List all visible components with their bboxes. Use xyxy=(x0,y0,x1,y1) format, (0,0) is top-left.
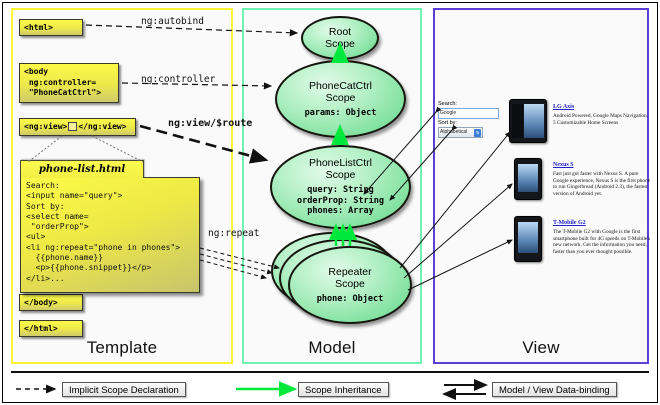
tag-box-body-close: </body> xyxy=(19,294,83,311)
phone-keyboard xyxy=(512,104,523,138)
tag-box-html-open: <html> xyxy=(19,19,83,36)
scope-phonecatctrl: PhoneCatCtrlScope params: Object xyxy=(275,60,406,138)
phone-snippet: Android Powered, Google Maps Navigation,… xyxy=(553,113,651,126)
edge-label-ng-autobind: ng:autobind xyxy=(141,16,204,27)
view-search-controls: Search: Google Sort by: Alphabetical ⇅ xyxy=(438,101,498,134)
scope-repeater-props: phone: Object xyxy=(317,294,384,305)
ngview-close-tag: </ng:view> xyxy=(78,122,126,131)
ngview-placeholder-icon xyxy=(68,122,77,131)
legend-item-implicit-scope-declaration: Implicit Scope Declaration xyxy=(62,382,186,397)
edge-label-ng-view-route: ng:view/$route xyxy=(168,118,252,129)
sort-label: Sort by: xyxy=(438,120,498,127)
template-note-code: Search: <input name="query"> Sort by: <s… xyxy=(20,177,200,293)
phone-list-item: Nexus S Fast just got faster with Nexus … xyxy=(553,161,651,197)
sort-select-value: Alphabetical xyxy=(440,128,467,137)
phone-thumbnail-nexus-s xyxy=(514,158,542,200)
panel-label-template: Template xyxy=(13,338,231,358)
scope-phonelistctrl: PhoneListCtrlScope query: StringorderPro… xyxy=(270,145,411,229)
phone-thumbnail-lg-axis xyxy=(509,99,547,143)
phone-screen xyxy=(518,222,538,253)
tag-box-ngview: <ng:view></ng:view> xyxy=(19,118,136,136)
phone-name-link[interactable]: Nexus S xyxy=(553,161,651,169)
phone-name-link[interactable]: T-Mobile G2 xyxy=(553,219,651,227)
scope-root-title: RootScope xyxy=(325,26,355,50)
sort-select[interactable]: Alphabetical ⇅ xyxy=(438,127,483,138)
diagram-canvas: Template Model View <html> <body ng:cont… xyxy=(0,0,660,405)
tag-box-body-open: <body ng:controller= "PhoneCatCtrl"> xyxy=(19,63,119,103)
panel-label-view: View xyxy=(435,338,647,358)
phone-name-link[interactable]: LG Axis xyxy=(553,103,651,111)
search-label: Search: xyxy=(438,101,498,108)
legend-divider xyxy=(11,371,649,373)
tag-box-html-close: </html> xyxy=(19,320,83,337)
phone-screen xyxy=(524,104,544,138)
legend-item-model-view-data-binding: Model / View Data-binding xyxy=(492,382,617,397)
phone-thumbnail-t-mobile-g2 xyxy=(514,216,542,262)
scope-phonelistctrl-title: PhoneListCtrlScope xyxy=(309,157,372,181)
template-note-title: phone-list.html xyxy=(20,160,144,178)
phone-screen xyxy=(518,164,538,192)
edge-label-ng-repeat: ng:repeat xyxy=(208,228,259,239)
legend-item-scope-inheritance: Scope Inheritance xyxy=(298,382,389,397)
chevron-updown-icon: ⇅ xyxy=(474,129,481,137)
scope-phonecatctrl-title: PhoneCatCtrlScope xyxy=(309,80,372,104)
edge-label-ng-controller: ng:controller xyxy=(141,74,215,85)
scope-repeater: RepeaterScope phone: Object xyxy=(288,246,412,324)
ngview-open-tag: <ng:view> xyxy=(24,122,67,131)
search-input[interactable]: Google xyxy=(438,108,499,119)
phone-snippet: Fast just got faster with Nexus S. A pur… xyxy=(553,171,651,197)
template-note-phone-list: Search: <input name="query"> Sort by: <s… xyxy=(20,160,200,295)
scope-repeater-title: RepeaterScope xyxy=(328,266,371,290)
phone-list-item: LG Axis Android Powered, Google Maps Nav… xyxy=(553,103,651,126)
phone-list-item: T-Mobile G2 The T-Mobile G2 with Google … xyxy=(553,219,651,255)
scope-phonecatctrl-props: params: Object xyxy=(305,108,377,119)
scope-phonelistctrl-props: query: StringorderProp: Stringphones: Ar… xyxy=(297,185,384,217)
panel-label-model: Model xyxy=(244,338,420,358)
phone-snippet: The T-Mobile G2 with Google is the first… xyxy=(553,229,651,255)
scope-root: RootScope xyxy=(301,16,379,60)
